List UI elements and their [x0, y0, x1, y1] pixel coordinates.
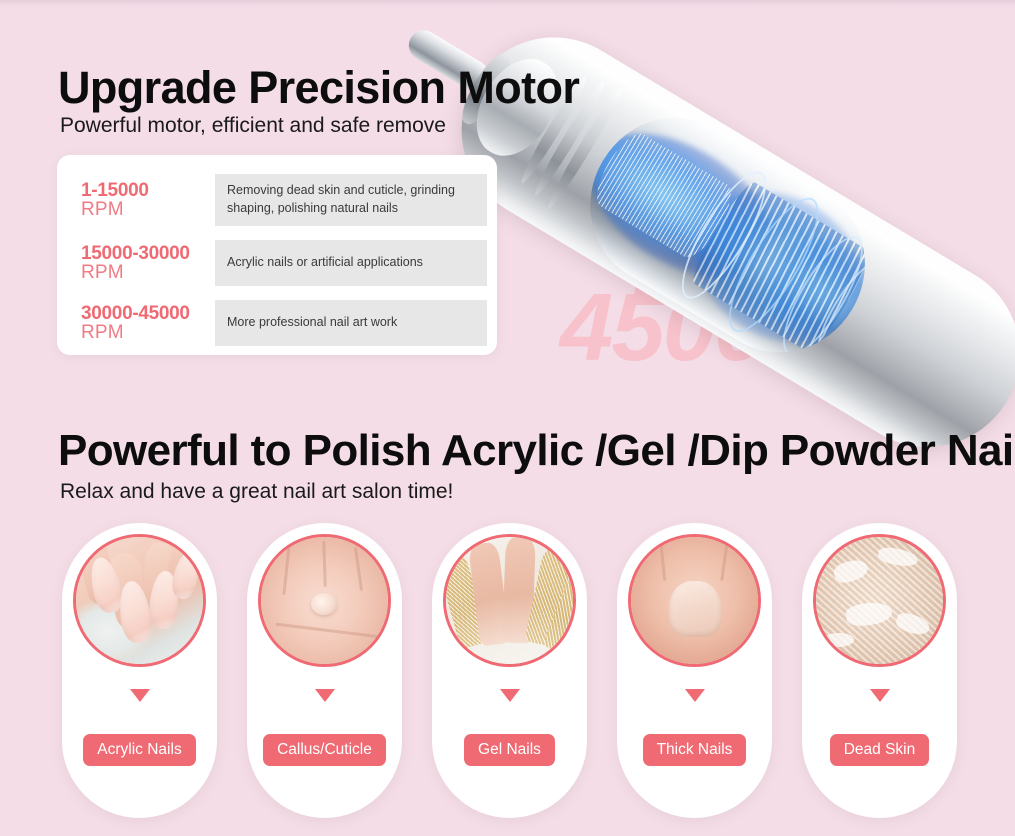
motor-section-title: Upgrade Precision Motor	[58, 62, 579, 114]
use-case-card-row: Acrylic Nails Callus/Cuticle	[62, 523, 957, 823]
rpm-unit: RPM	[81, 323, 215, 342]
rpm-table-row: 15000-30000 RPM Acrylic nails or artific…	[57, 238, 497, 288]
rpm-speed-label: 15000-30000 RPM	[57, 244, 215, 283]
watermark-rpm-text: RPM	[632, 232, 799, 310]
down-arrow-icon	[130, 689, 150, 702]
rpm-unit: RPM	[81, 200, 215, 219]
rpm-unit: RPM	[81, 263, 215, 282]
use-case-card: Dead Skin	[802, 523, 957, 818]
card-label: Dead Skin	[830, 734, 930, 766]
motor-section-subtitle: Powerful motor, efficient and safe remov…	[60, 114, 446, 138]
thick-nails-photo	[628, 534, 761, 667]
rpm-description: Removing dead skin and cuticle, grinding…	[215, 174, 487, 226]
card-label: Thick Nails	[643, 734, 747, 766]
polish-section-title: Powerful to Polish Acrylic /Gel /Dip Pow…	[58, 426, 1015, 476]
down-arrow-icon	[500, 689, 520, 702]
rpm-speed-label: 1-15000 RPM	[57, 181, 215, 220]
rpm-table-row: 30000-45000 RPM More professional nail a…	[57, 298, 497, 348]
motor-glow	[744, 217, 896, 368]
card-label: Gel Nails	[464, 734, 555, 766]
gel-nails-photo	[443, 534, 576, 667]
polish-section-subtitle: Relax and have a great nail art salon ti…	[60, 480, 453, 504]
card-label: Acrylic Nails	[83, 734, 195, 766]
motor-ring	[805, 253, 896, 371]
card-label: Callus/Cuticle	[263, 734, 386, 766]
rpm-speed-value: 1-15000	[81, 181, 215, 200]
dead-skin-photo	[813, 534, 946, 667]
rpm-speed-value: 30000-45000	[81, 304, 215, 323]
motor-stator	[587, 126, 740, 264]
down-arrow-icon	[685, 689, 705, 702]
rpm-speed-value: 15000-30000	[81, 244, 215, 263]
motor-ring	[769, 226, 877, 365]
down-arrow-icon	[870, 689, 890, 702]
watermark-number-text: 45000	[560, 280, 817, 376]
motor-cutaway-window	[560, 87, 896, 382]
down-arrow-icon	[315, 689, 335, 702]
motor-windings	[686, 178, 875, 356]
motor-ring	[713, 187, 833, 344]
use-case-card: Callus/Cuticle	[247, 523, 402, 818]
use-case-card: Acrylic Nails	[62, 523, 217, 818]
motor-glow	[565, 104, 796, 306]
rpm-description: More professional nail art work	[215, 300, 487, 346]
use-case-card: Gel Nails	[432, 523, 587, 818]
use-case-card: Thick Nails	[617, 523, 772, 818]
rpm-watermark: RPM 45000	[560, 210, 1015, 410]
rpm-speed-label: 30000-45000 RPM	[57, 304, 215, 343]
rpm-description: Acrylic nails or artificial applications	[215, 240, 487, 286]
acrylic-nails-photo	[73, 534, 206, 667]
rpm-table-row: 1-15000 RPM Removing dead skin and cutic…	[57, 175, 497, 225]
motor-ring	[668, 161, 781, 309]
product-infographic-page: RPM 45000 Upgrade Precision Mo	[0, 0, 1015, 836]
rpm-table-panel: 1-15000 RPM Removing dead skin and cutic…	[57, 155, 497, 355]
callus-cuticle-photo	[258, 534, 391, 667]
motor-glow	[668, 162, 891, 373]
